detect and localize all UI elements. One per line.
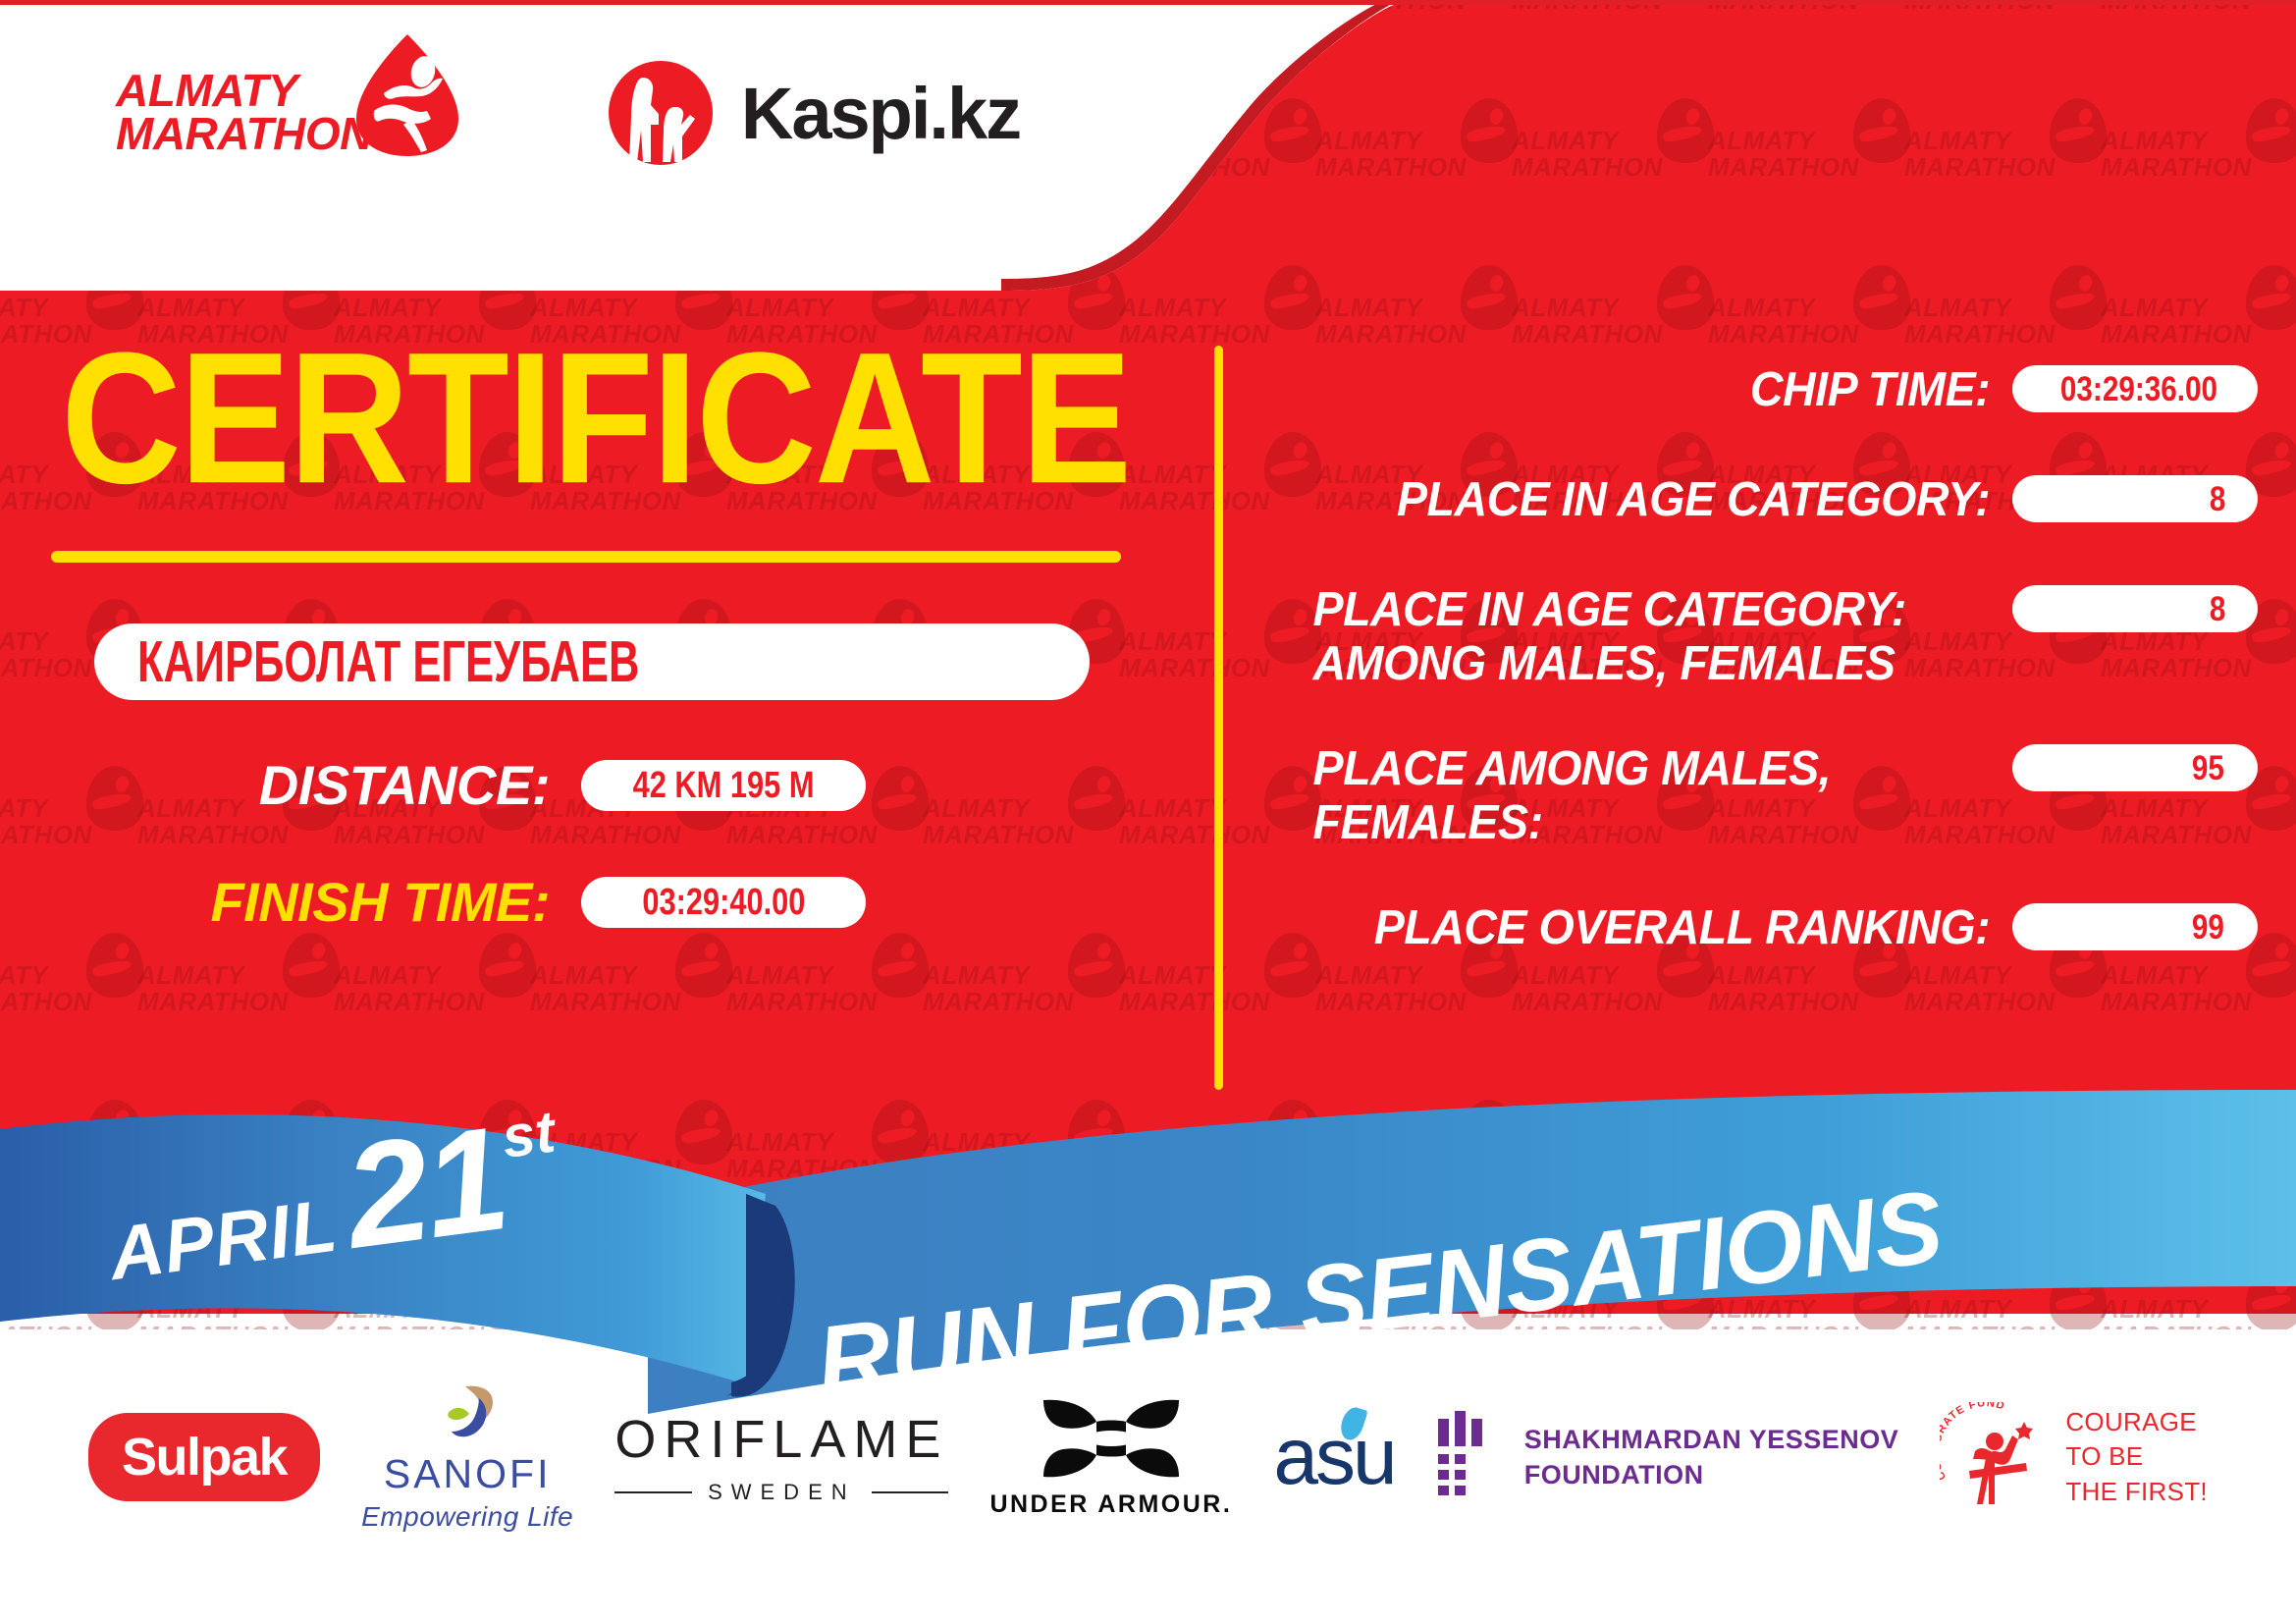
sanofi-mark-icon: [436, 1382, 499, 1445]
chip-time-label: CHIP TIME:: [1313, 363, 2013, 417]
chip-time-value: 03:29:36.00: [2060, 368, 2217, 408]
watermark-tile: ALMATYMARATHON: [0, 962, 137, 1076]
watermark-tile: ALMATYMARATHON: [2101, 128, 2296, 242]
finish-time-value: 03:29:40.00: [642, 881, 805, 923]
place-among-gender-row: PLACE AMONG MALES,FEMALES: 95: [1276, 742, 2258, 850]
sponsor-asu-logo: asu: [1273, 1411, 1394, 1503]
chip-time-row: CHIP TIME: 03:29:36.00: [1276, 363, 2258, 422]
almaty-marathon-line2: MARATHON: [116, 113, 372, 156]
watermark-tile: ALMATYMARATHON: [137, 962, 334, 1076]
watermark-drop-icon: [2050, 1100, 2107, 1164]
watermark-drop-icon: [2050, 1267, 2107, 1331]
place-age-category-gender-row: PLACE IN AGE CATEGORY:AMONG MALES, FEMAL…: [1276, 583, 2258, 691]
sponsor-courage-fund-logo: CORPORATE FUND COURAGE TO BE THE FIRST!: [1940, 1402, 2208, 1512]
place-age-category-gender-label: PLACE IN AGE CATEGORY:AMONG MALES, FEMAL…: [1313, 583, 2013, 691]
watermark-tile: ALMATYMARATHON: [530, 962, 726, 1076]
sponsor-oriflame-tagline: SWEDEN: [708, 1480, 856, 1505]
watermark-tile: ALMATYMARATHON: [1708, 128, 1904, 242]
almaty-marathon-line1: ALMATY: [116, 70, 372, 113]
athlete-name-field: КАИРБОЛАТ ЕГЕУБАЕВ: [94, 623, 1090, 700]
watermark-drop-icon: [675, 933, 732, 998]
place-age-category-value-pill: 8: [2012, 475, 2258, 522]
watermark-drop-icon: [283, 933, 340, 998]
sponsor-yessenov-foundation-logo: SHAKHMARDAN YESSENOV FOUNDATION: [1436, 1411, 1899, 1503]
watermark-drop-icon: [479, 933, 536, 998]
athlete-name-value: КАИРБОЛАТ ЕГЕУБАЕВ: [137, 628, 639, 695]
place-age-category-gender-value-pill: 8: [2012, 585, 2258, 632]
watermark-tile: ALMATYMARATHON: [1708, 0, 1904, 75]
watermark-tile: ALMATYMARATHON: [2101, 1129, 2296, 1243]
courage-line2: TO BE: [2065, 1439, 2208, 1474]
watermark-tile: ALMATYMARATHON: [923, 1129, 1119, 1243]
finish-time-label: FINISH TIME:: [0, 870, 550, 934]
watermark-drop-icon: [1068, 1100, 1125, 1164]
top-red-rule: [0, 0, 2296, 5]
place-overall-label: PLACE OVERALL RANKING:: [1313, 901, 2013, 955]
place-overall-row: PLACE OVERALL RANKING: 99: [1276, 901, 2258, 960]
watermark-drop-icon: [872, 933, 929, 998]
kaspi-people-icon: [608, 60, 714, 166]
distance-value-pill: 42 KM 195 M: [581, 760, 866, 811]
sponsor-sanofi-logo: SANOFI Empowering Life: [361, 1382, 573, 1533]
yessenov-line1: SHAKHMARDAN YESSENOV: [1524, 1422, 1899, 1457]
certificate-page: ALMATYMARATHONALMATYMARATHONALMATYMARATH…: [0, 0, 2296, 1624]
sponsor-sanofi-name: SANOFI: [384, 1451, 552, 1497]
watermark-drop-icon: [2246, 1267, 2296, 1331]
sponsor-under-armour-name: UNDER ARMOUR.: [989, 1490, 1232, 1519]
sponsor-yessenov-foundation-text: SHAKHMARDAN YESSENOV FOUNDATION: [1524, 1422, 1899, 1493]
place-age-category-row: PLACE IN AGE CATEGORY: 8: [1276, 473, 2258, 532]
place-overall-value-pill: 99: [2012, 903, 2258, 950]
distance-label: DISTANCE:: [0, 753, 550, 817]
watermark-tile: ALMATYMARATHON: [726, 962, 923, 1076]
oriflame-rule-right: [872, 1491, 949, 1493]
sponsor-under-armour-logo: UNDER ARMOUR.: [989, 1396, 1232, 1519]
courage-line3: THE FIRST!: [2065, 1475, 2208, 1509]
certificate-left-column: CERTIFICATE КАИРБОЛАТ ЕГЕУБАЕВ DISTANCE:…: [0, 324, 1207, 934]
watermark-drop-icon: [1068, 933, 1125, 998]
column-divider: [1214, 346, 1223, 1090]
courage-fund-icon: CORPORATE FUND: [1940, 1402, 2050, 1512]
distance-value: 42 KM 195 M: [633, 764, 815, 806]
courage-line1: COURAGE: [2065, 1405, 2208, 1439]
watermark-drop-icon: [1657, 98, 1714, 163]
watermark-tile: ALMATYMARATHON: [334, 962, 530, 1076]
watermark-drop-icon: [2246, 265, 2296, 330]
chip-time-value-pill: 03:29:36.00: [2012, 365, 2258, 412]
place-among-gender-value: 95: [2192, 747, 2224, 787]
event-day-suffix: st: [498, 1098, 559, 1171]
place-age-category-value: 8: [2210, 478, 2226, 518]
sponsor-sanofi-tagline: Empowering Life: [361, 1501, 573, 1533]
watermark-tile: ALMATYMARATHON: [923, 962, 1119, 1076]
watermark-drop-icon: [1657, 265, 1714, 330]
sponsor-asu-name: asu: [1273, 1411, 1394, 1503]
under-armour-icon: [1038, 1396, 1185, 1481]
almaty-marathon-logo: ALMATY MARATHON: [116, 39, 460, 187]
results-column: CHIP TIME: 03:29:36.00 PLACE IN AGE CATE…: [1276, 363, 2258, 1011]
watermark-tile: ALMATYMARATHON: [726, 1129, 923, 1243]
watermark-drop-icon: [1461, 265, 1518, 330]
watermark-drop-icon: [2050, 98, 2107, 163]
event-day: 21: [336, 1093, 514, 1282]
watermark-drop-icon: [86, 933, 143, 998]
oriflame-rule-left: [614, 1491, 692, 1493]
watermark-drop-icon: [1461, 1100, 1518, 1164]
sponsor-sulpak-logo: Sulpak: [88, 1413, 320, 1501]
sponsor-oriflame-sub: SWEDEN: [614, 1480, 948, 1505]
kaspi-logo: Kaspi.kz: [608, 49, 1020, 177]
place-overall-value: 99: [2192, 906, 2224, 947]
watermark-tile: ALMATYMARATHON: [1904, 128, 2101, 242]
watermark-drop-icon: [1853, 98, 1910, 163]
distance-row: DISTANCE: 42 KM 195 M: [0, 753, 1207, 817]
watermark-tile: ALMATYMARATHON: [2101, 0, 2296, 75]
watermark-drop-icon: [872, 1100, 929, 1164]
watermark-drop-icon: [2050, 265, 2107, 330]
yessenov-mark-icon: [1436, 1411, 1495, 1503]
sponsor-courage-fund-text: COURAGE TO BE THE FIRST!: [2065, 1405, 2208, 1508]
header-logo-row: ALMATY MARATHON: [0, 0, 1178, 226]
sponsor-oriflame-name: ORIFLAME: [614, 1409, 948, 1470]
page-title: CERTIFICATE: [0, 324, 1207, 514]
finish-time-value-pill: 03:29:40.00: [581, 877, 866, 928]
watermark-drop-icon: [1461, 98, 1518, 163]
watermark-drop-icon: [1853, 1100, 1910, 1164]
place-among-gender-value-pill: 95: [2012, 744, 2258, 791]
sponsor-sulpak-name: Sulpak: [122, 1427, 287, 1488]
sponsor-oriflame-logo: ORIFLAME SWEDEN: [614, 1409, 948, 1505]
watermark-drop-icon: [2246, 1100, 2296, 1164]
place-age-category-gender-value: 8: [2210, 588, 2226, 628]
finish-time-row: FINISH TIME: 03:29:40.00: [0, 870, 1207, 934]
event-month: APRIL: [104, 1182, 342, 1297]
title-underline: [51, 551, 1121, 563]
yessenov-line2: FOUNDATION: [1524, 1457, 1899, 1492]
watermark-tile: ALMATYMARATHON: [1512, 128, 1708, 242]
watermark-drop-icon: [675, 1100, 732, 1164]
watermark-tile: ALMATYMARATHON: [1512, 0, 1708, 75]
place-age-category-label: PLACE IN AGE CATEGORY:: [1313, 473, 2013, 527]
watermark-drop-icon: [1264, 1100, 1321, 1164]
watermark-tile: ALMATYMARATHON: [1119, 1129, 1315, 1243]
watermark-drop-icon: [1853, 265, 1910, 330]
watermark-tile: ALMATYMARATHON: [1904, 0, 2101, 75]
watermark-drop-icon: [479, 1267, 536, 1331]
place-among-gender-label: PLACE AMONG MALES,FEMALES:: [1313, 742, 2013, 850]
almaty-marathon-wordmark: ALMATY MARATHON: [116, 70, 372, 155]
kaspi-wordmark: Kaspi.kz: [741, 72, 1020, 155]
watermark-drop-icon: [1657, 1100, 1714, 1164]
runner-drop-icon: [354, 32, 460, 158]
watermark-drop-icon: [2246, 98, 2296, 163]
watermark-drop-icon: [675, 1267, 732, 1331]
